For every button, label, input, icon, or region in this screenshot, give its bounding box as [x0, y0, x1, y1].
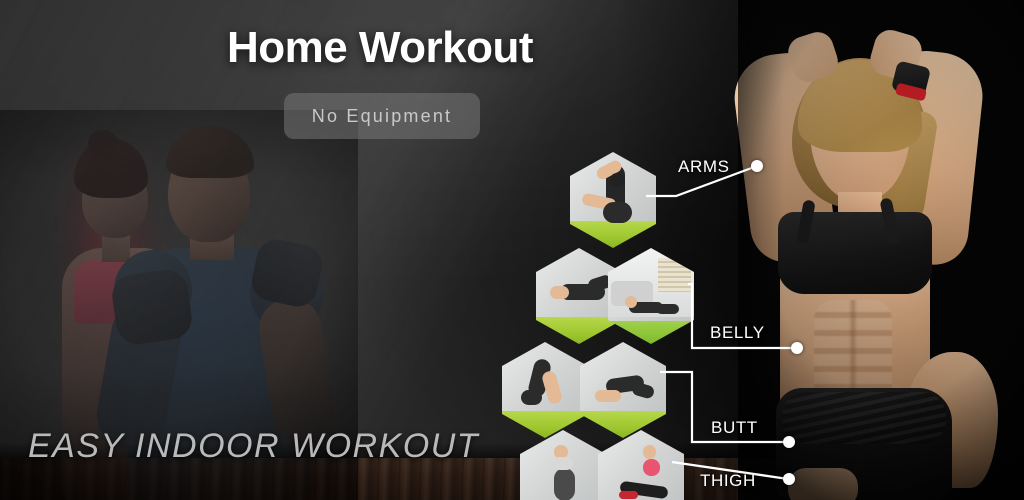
hero-banner: Home Workout No Equipment EASY INDOOR WO…	[0, 0, 1024, 500]
connector-lines	[0, 0, 1024, 500]
label-belly: BELLY	[710, 323, 765, 343]
dot-belly	[791, 342, 803, 354]
dot-thigh	[783, 473, 795, 485]
label-butt: BUTT	[711, 418, 758, 438]
label-arms: ARMS	[678, 157, 730, 177]
dot-arms	[751, 160, 763, 172]
label-thigh: THIGH	[700, 471, 756, 491]
dot-butt	[783, 436, 795, 448]
